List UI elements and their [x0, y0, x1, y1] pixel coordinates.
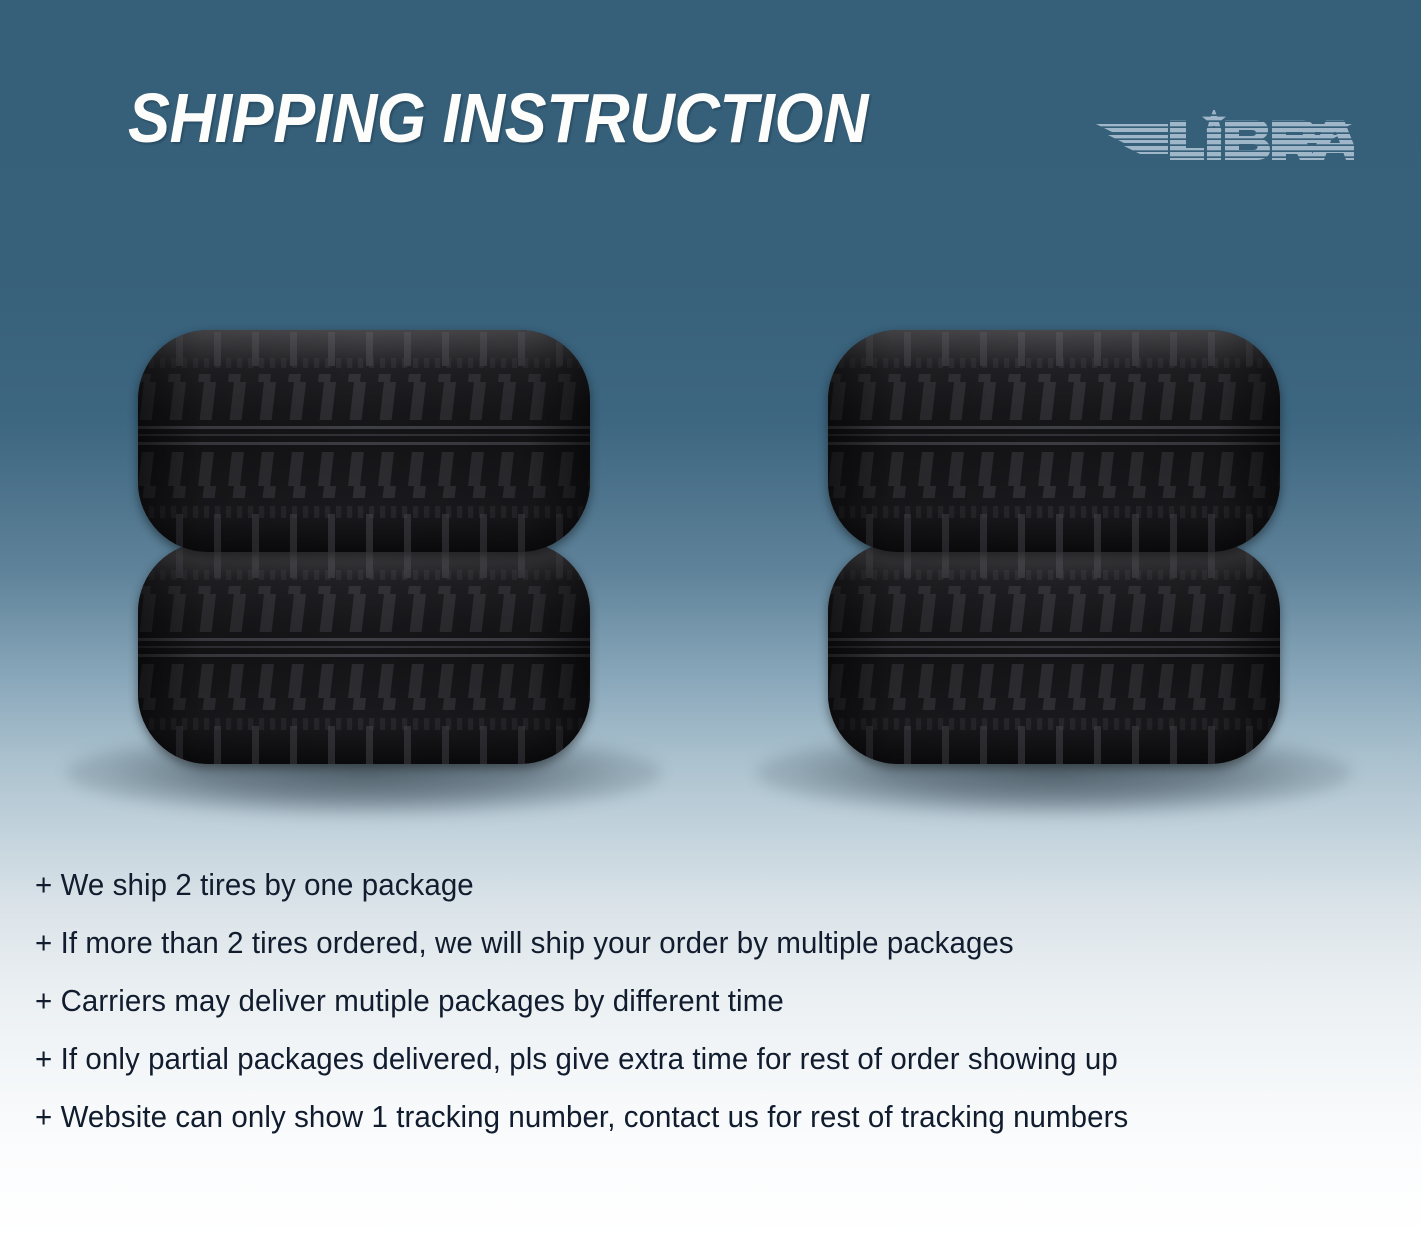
banner-header: SHIPPING INSTRUCTION [0, 0, 1421, 230]
tire-stack-right [828, 330, 1280, 764]
instruction-item: + If only partial packages delivered, pl… [35, 1030, 1308, 1088]
logo-wings-and-text [1096, 108, 1354, 160]
instruction-item: + Website can only show 1 tracking numbe… [35, 1088, 1308, 1146]
tire-top [828, 330, 1280, 552]
tire-top [138, 330, 590, 552]
tire-stack-left [138, 330, 590, 764]
instruction-item: + If more than 2 tires ordered, we will … [35, 914, 1308, 972]
tire-bottom [138, 542, 590, 764]
shipping-instruction-banner: SHIPPING INSTRUCTION [0, 0, 1421, 1238]
tire-illustration [0, 300, 1421, 800]
instruction-item: + We ship 2 tires by one package [35, 856, 1308, 914]
page-title: SHIPPING INSTRUCTION [128, 82, 868, 154]
instruction-item: + Carriers may deliver mutiple packages … [35, 972, 1308, 1030]
instruction-list: + We ship 2 tires by one package + If mo… [35, 856, 1375, 1146]
libra-logo [1094, 98, 1354, 180]
tire-bottom [828, 542, 1280, 764]
